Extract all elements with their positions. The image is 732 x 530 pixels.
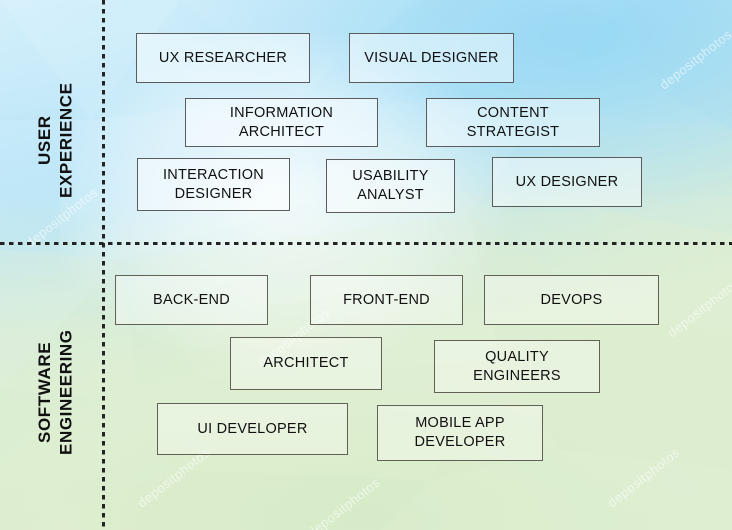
role-box[interactable]: INTERACTION DESIGNER: [137, 158, 290, 211]
diagram-canvas: depositphotosdepositphotosdepositphotosd…: [0, 0, 732, 530]
role-box[interactable]: ARCHITECT: [230, 337, 382, 390]
role-box[interactable]: UI DEVELOPER: [157, 403, 348, 455]
role-box[interactable]: QUALITY ENGINEERS: [434, 340, 600, 393]
role-box[interactable]: DEVOPS: [484, 275, 659, 325]
horizontal-divider-dotted-line: [0, 242, 732, 245]
role-box[interactable]: UX DESIGNER: [492, 157, 642, 207]
role-box[interactable]: CONTENT STRATEGIST: [426, 98, 600, 147]
section-label-user-experience: USER EXPERIENCE: [34, 60, 77, 220]
role-box[interactable]: INFORMATION ARCHITECT: [185, 98, 378, 147]
role-box[interactable]: MOBILE APP DEVELOPER: [377, 405, 543, 461]
role-box[interactable]: FRONT-END: [310, 275, 463, 325]
role-box[interactable]: VISUAL DESIGNER: [349, 33, 514, 83]
section-label-software-engineering: SOFTWARE ENGINEERING: [34, 300, 77, 485]
role-box[interactable]: UX RESEARCHER: [136, 33, 310, 83]
role-box[interactable]: BACK-END: [115, 275, 268, 325]
role-box[interactable]: USABILITY ANALYST: [326, 159, 455, 213]
vertical-divider-dotted-line: [102, 0, 105, 530]
